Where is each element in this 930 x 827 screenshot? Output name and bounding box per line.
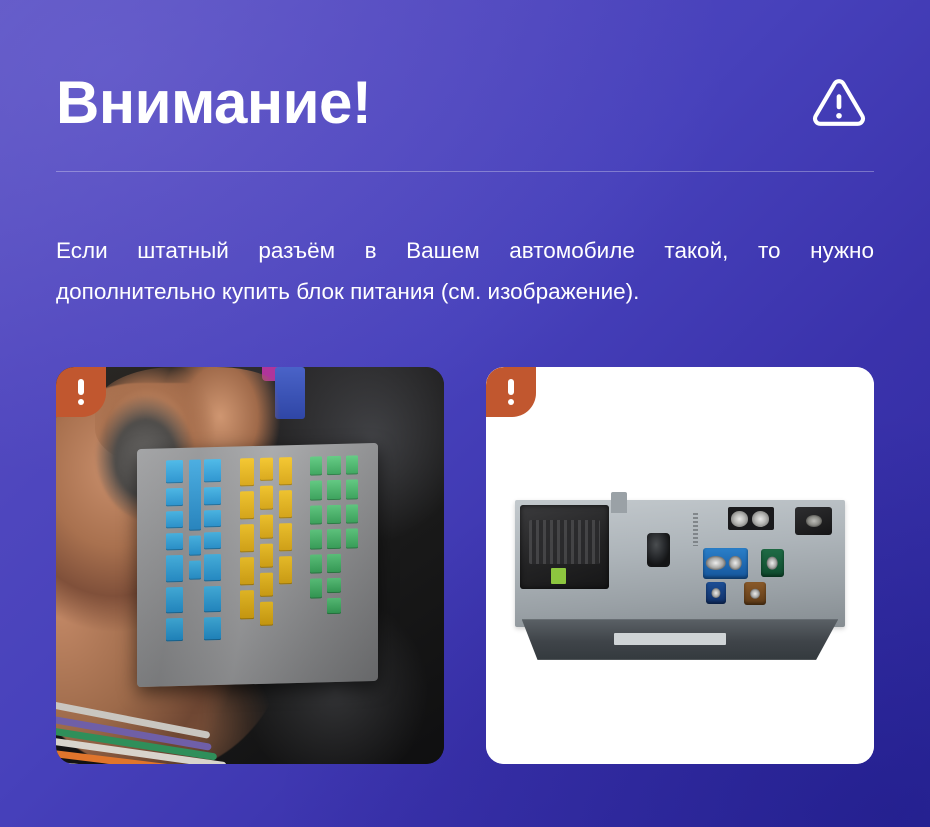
exclamation-dot: [508, 399, 514, 405]
pin-column-blue-3: [205, 457, 222, 677]
pin-column-blue-1: [166, 458, 183, 678]
notice-line-2: дополнительно купить блок питания (см. и…: [56, 272, 874, 313]
notice-line-1: Если штатный разъём в Вашем автомобиле т…: [56, 231, 874, 272]
oem-connector-body: [137, 443, 378, 687]
image-card-row: [56, 367, 874, 764]
pin-column-yellow-3: [279, 455, 292, 674]
psu-round-knob: [647, 533, 670, 567]
fakra-connector-blue: [703, 548, 748, 578]
exclamation-dot: [78, 399, 84, 405]
connector-photo-card[interactable]: [56, 367, 444, 764]
psu-screw-tab: [611, 492, 627, 512]
page-header: Внимание!: [56, 0, 874, 172]
fakra-connector-navy: [706, 582, 726, 604]
psu-sticker-label: [614, 633, 726, 644]
page-title: Внимание!: [56, 73, 371, 133]
power-supply-photo: [486, 367, 874, 764]
pin-column-green-2: [328, 454, 342, 674]
notice-text: Если штатный разъём в Вашем автомобиле т…: [56, 231, 874, 313]
psu-antenna-socket: [795, 507, 831, 535]
warning-triangle-icon: [808, 72, 870, 134]
rca-jack-left: [731, 511, 749, 527]
power-supply-photo-card[interactable]: [486, 367, 874, 764]
power-supply-module: [515, 500, 845, 627]
fakra-connector-brown: [744, 582, 765, 605]
pin-column-green-3: [347, 453, 359, 672]
psu-printed-text: [693, 513, 698, 546]
exclamation-stem: [78, 379, 84, 395]
exclamation-badge-icon: [56, 367, 106, 417]
pin-column-blue-2: [189, 457, 201, 676]
wire-harness-bundle: [56, 677, 281, 764]
pin-column-yellow-1: [241, 456, 254, 675]
psu-rca-jacks: [728, 507, 774, 530]
connector-photo: [56, 367, 444, 764]
pin-column-green-1: [311, 454, 323, 673]
fakra-connector-green: [761, 549, 784, 577]
rca-jack-right: [752, 511, 770, 527]
warning-page: Внимание! Если штатный разъём в Вашем ав…: [0, 0, 930, 827]
psu-green-marker: [551, 568, 566, 583]
pin-column-yellow-2: [260, 455, 273, 674]
exclamation-stem: [508, 379, 514, 395]
header-divider: [56, 171, 874, 172]
exclamation-badge-icon: [486, 367, 536, 417]
